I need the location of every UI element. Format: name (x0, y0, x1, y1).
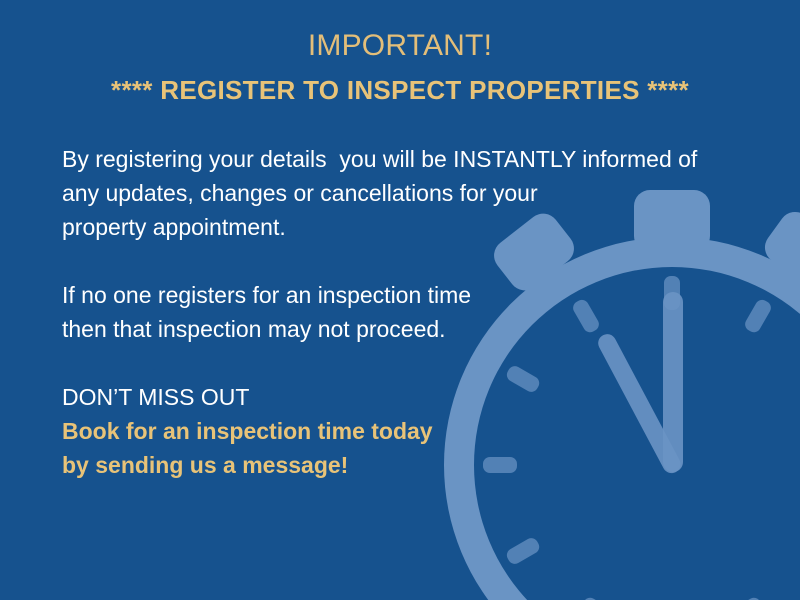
paragraph-registering-benefits: By registering your details you will be … (62, 142, 722, 244)
headline-block: IMPORTANT! **** REGISTER TO INSPECT PROP… (0, 26, 800, 110)
paragraph-spacer (62, 346, 722, 380)
paragraph-no-registration-warning: If no one registers for an inspection ti… (62, 278, 722, 346)
paragraph-line: By registering your details you will be … (62, 142, 722, 176)
paragraph-line: If no one registers for an inspection ti… (62, 278, 722, 312)
paragraph-line: then that inspection may not proceed. (62, 312, 722, 346)
body-block: By registering your details you will be … (62, 142, 722, 482)
paragraph-line: property appointment. (62, 210, 722, 244)
headline-important: IMPORTANT! (0, 26, 800, 66)
paragraph-spacer (62, 244, 722, 278)
call-to-action-block: DON’T MISS OUT Book for an inspection ti… (62, 380, 722, 482)
cta-book-inspection: Book for an inspection time today (62, 414, 722, 448)
slide-content: IMPORTANT! **** REGISTER TO INSPECT PROP… (0, 0, 800, 600)
slide-canvas: IMPORTANT! **** REGISTER TO INSPECT PROP… (0, 0, 800, 600)
cta-dont-miss-out: DON’T MISS OUT (62, 380, 722, 414)
paragraph-line: any updates, changes or cancellations fo… (62, 176, 722, 210)
headline-register: **** REGISTER TO INSPECT PROPERTIES **** (0, 70, 800, 110)
cta-send-message: by sending us a message! (62, 448, 722, 482)
